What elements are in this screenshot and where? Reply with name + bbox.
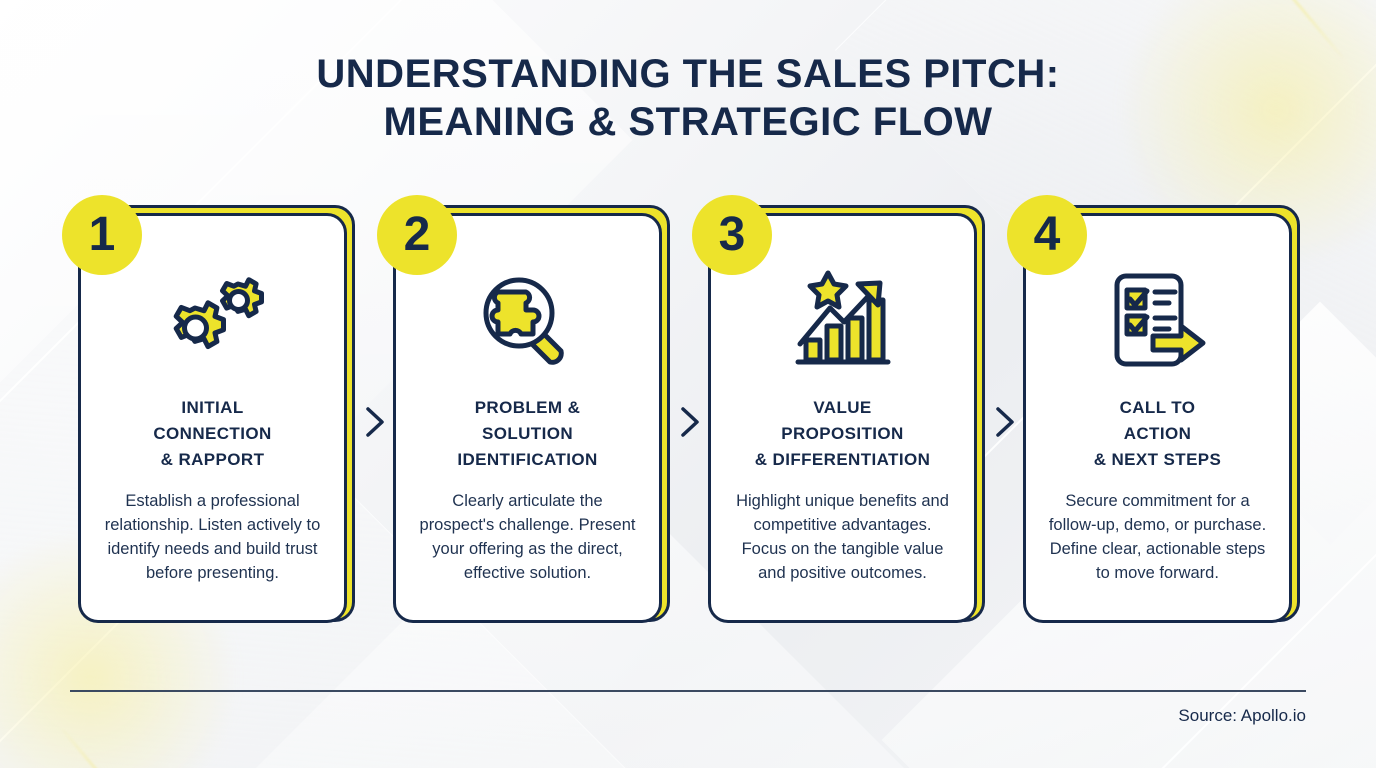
- step-description: Secure commitment for a follow-up, demo,…: [1042, 489, 1273, 585]
- chevron-right-icon: [992, 405, 1018, 439]
- page-title-line-1: UNDERSTANDING THE SALES PITCH:: [0, 50, 1376, 98]
- magnifier-puzzle-icon: [473, 268, 583, 373]
- step-description: Establish a professional relationship. L…: [97, 489, 328, 585]
- chevron-right-icon: [362, 405, 388, 439]
- step-title: CALL TO ACTION & NEXT STEPS: [1094, 395, 1222, 473]
- card-surface: CALL TO ACTION & NEXT STEPS Secure commi…: [1023, 213, 1292, 623]
- step-number-badge: 1: [62, 195, 142, 275]
- gears-icon: [158, 268, 268, 373]
- source-attribution: Source: Apollo.io: [70, 706, 1306, 726]
- step-number-badge: 3: [692, 195, 772, 275]
- card-surface: VALUE PROPOSITION & DIFFERENTIATION High…: [708, 213, 977, 623]
- light-ray-bottom-left-thin: [59, 726, 228, 768]
- step-title: PROBLEM & SOLUTION IDENTIFICATION: [457, 395, 597, 473]
- step-card-4[interactable]: CALL TO ACTION & NEXT STEPS Secure commi…: [1023, 205, 1300, 630]
- step-card-3[interactable]: VALUE PROPOSITION & DIFFERENTIATION High…: [708, 205, 985, 630]
- checklist-arrow-icon: [1103, 268, 1213, 373]
- growth-chart-star-icon: [788, 268, 898, 373]
- step-number-badge: 4: [1007, 195, 1087, 275]
- step-description: Highlight unique benefits and competitiv…: [727, 489, 958, 585]
- step-number-badge: 2: [377, 195, 457, 275]
- infographic-canvas: UNDERSTANDING THE SALES PITCH: MEANING &…: [0, 0, 1376, 768]
- step-title: INITIAL CONNECTION & RAPPORT: [153, 395, 271, 473]
- card-surface: INITIAL CONNECTION & RAPPORT Establish a…: [78, 213, 347, 623]
- chevron-right-icon: [677, 405, 703, 439]
- step-description: Clearly articulate the prospect's challe…: [412, 489, 643, 585]
- page-title-line-2: MEANING & STRATEGIC FLOW: [0, 98, 1376, 146]
- page-title: UNDERSTANDING THE SALES PITCH: MEANING &…: [0, 50, 1376, 146]
- footer-divider: [70, 690, 1306, 692]
- step-title: VALUE PROPOSITION & DIFFERENTIATION: [755, 395, 931, 473]
- step-card-1[interactable]: INITIAL CONNECTION & RAPPORT Establish a…: [78, 205, 355, 630]
- card-surface: PROBLEM & SOLUTION IDENTIFICATION Clearl…: [393, 213, 662, 623]
- step-card-2[interactable]: PROBLEM & SOLUTION IDENTIFICATION Clearl…: [393, 205, 670, 630]
